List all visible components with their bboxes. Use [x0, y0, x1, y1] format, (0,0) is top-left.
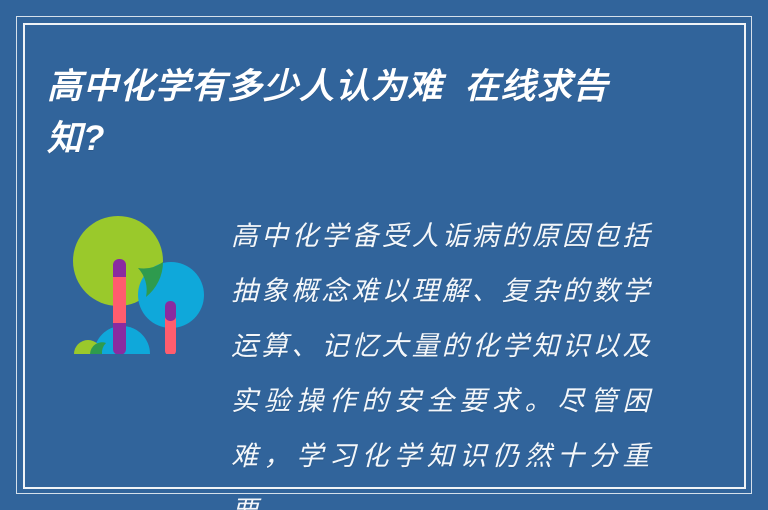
- ground-line: [66, 354, 216, 356]
- flat-trees-illustration: [66, 205, 216, 365]
- page-title: 高中化学有多少人认为难 在线求告知?: [47, 61, 647, 165]
- poster-canvas: 高中化学有多少人认为难 在线求告知? 高中化学备受: [0, 0, 768, 510]
- body-paragraph: 高中化学备受人诟病的原因包括抽象概念难以理解、复杂的数学运算、记忆大量的化学知识…: [231, 209, 651, 510]
- tree-trunk-pink-main: [113, 277, 126, 323]
- tree-trunk-purple-right: [165, 301, 176, 321]
